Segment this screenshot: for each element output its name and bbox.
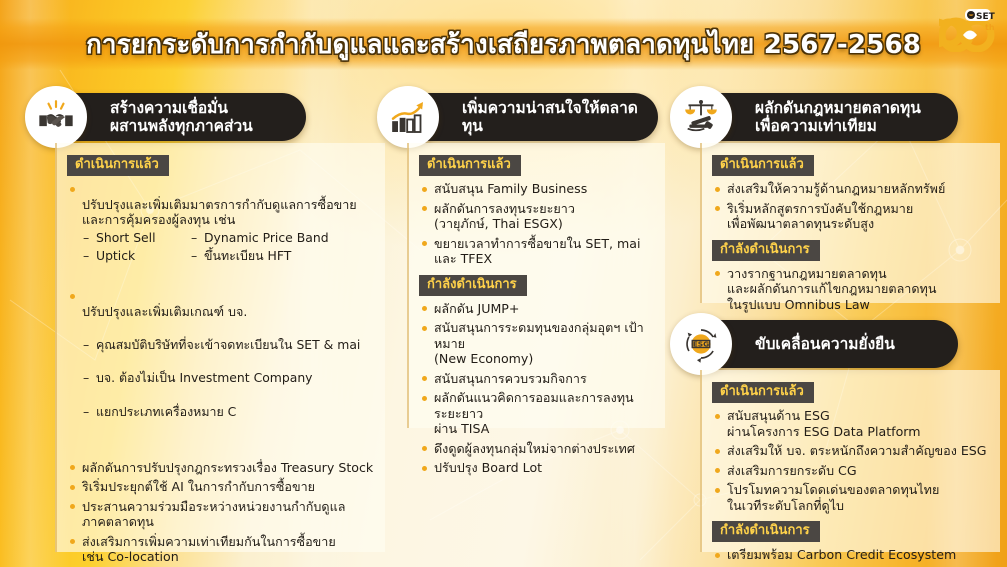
list-item: ผลักดันแนวคิดการออมและการลงทุนระยะยาว ผ่…: [419, 390, 657, 437]
sub-list-item: แยกประเภทเครื่องหมาย C: [82, 404, 377, 420]
list-done-trust: ปรับปรุงและเพิ่มเติมมาตรการกำกับดูแลการซ…: [67, 181, 377, 567]
title-banner: การยกระดับการกำกับดูแลและสร้างเสถียรภาพต…: [0, 18, 1007, 70]
column-header-law[interactable]: ผลักดันกฎหมายตลาดทุน เพื่อความเท่าเทียม: [693, 93, 958, 141]
list-item: ปรับปรุงและเพิ่มเติมเกณฑ์ บจ. คุณสมบัติบ…: [67, 288, 377, 456]
set-50th-anniversary-logo: SET th: [939, 4, 997, 52]
list-item: สนับสนุนการควบรวมกิจการ: [419, 371, 657, 387]
list-item: ประสานความร่วมมือระหว่างหน่วยงานกำกับดูแ…: [67, 499, 377, 530]
list-item: ริเริ่มหลักสูตรการบังคับใช้กฎหมาย เพื่อพ…: [712, 201, 992, 232]
section-badge-done-law: ดำเนินการแล้ว: [712, 155, 814, 176]
section-badge-inprogress-esg: กำลังดำเนินการ: [712, 521, 820, 542]
list-item: ริเริ่มประยุกต์ใช้ AI ในการกำกับการซื้อข…: [67, 479, 377, 495]
section-badge-done-attractiveness: ดำเนินการแล้ว: [419, 155, 521, 176]
bar-chart-growth-icon: [377, 86, 439, 148]
column-panel-esg: ดำเนินการแล้ว สนับสนุนด้าน ESG ผ่านโครงก…: [700, 370, 1000, 552]
handshake-icon: [25, 86, 87, 148]
list-item: ส่งเสริมการยกระดับ CG: [712, 463, 992, 479]
list-item: สนับสนุนการระดมทุนของกลุ่มอุตฯ เป้าหมาย …: [419, 320, 657, 367]
list-item-text: ปรับปรุงและเพิ่มเติมเกณฑ์ บจ.: [82, 304, 247, 319]
infographic-canvas: การยกระดับการกำกับดูแลและสร้างเสถียรภาพต…: [0, 0, 1007, 567]
section-badge-inprogress-law: กำลังดำเนินการ: [712, 240, 820, 261]
list-item: ปรับปรุงและเพิ่มเติมมาตรการกำกับดูแลการซ…: [67, 181, 377, 284]
sub-list: คุณสมบัติบริษัทที่จะเข้าจดทะเบียนใน SET …: [82, 321, 377, 437]
list-done-attractiveness: สนับสนุน Family Business ผลักดันการลงทุน…: [419, 181, 657, 267]
list-inprogress-attractiveness: ผลักดัน JUMP+ สนับสนุนการระดมทุนของกลุ่ม…: [419, 301, 657, 476]
list-done-esg: สนับสนุนด้าน ESG ผ่านโครงการ ESG Data Pl…: [712, 408, 992, 513]
list-item: สนับสนุน Family Business: [419, 181, 657, 197]
sub-list-item: คุณสมบัติบริษัทที่จะเข้าจดทะเบียนใน SET …: [82, 337, 377, 353]
column-panel-attractiveness: ดำเนินการแล้ว สนับสนุน Family Business ผ…: [407, 143, 665, 428]
column-panel-trust: ดำเนินการแล้ว ปรับปรุงและเพิ่มเติมมาตรกา…: [55, 143, 385, 552]
list-item: ส่งเสริมให้ บจ. ตระหนักถึงความสำคัญของ E…: [712, 443, 992, 459]
column-header-trust[interactable]: สร้างความเชื่อมั่น ผสานพลังทุกภาคส่วน: [48, 93, 306, 141]
sub-list-item: Uptick: [82, 248, 186, 264]
list-item: ส่งเสริมให้ความรู้ด้านกฎหมายหลักทรัพย์: [712, 181, 992, 197]
list-item: ขยายเวลาทำการซื้อขายใน SET, mai และ TFEX: [419, 236, 657, 267]
esg-icon: ESG: [670, 313, 732, 375]
list-item: ผลักดันการลงทุนระยะยาว (วายุภักษ์, Thai …: [419, 201, 657, 232]
column-header-esg[interactable]: ESG ขับเคลื่อนความยั่งยืน: [693, 320, 958, 368]
column-panel-law: ดำเนินการแล้ว ส่งเสริมให้ความรู้ด้านกฎหม…: [700, 143, 1000, 303]
list-item: โปรโมทความโดดเด่นของตลาดทุนไทย ในเวทีระด…: [712, 482, 992, 513]
sub-list-item: Dynamic Price Band: [190, 230, 377, 246]
list-item: ดึงดูดผู้ลงทุนกลุ่มใหม่จากต่างประเทศ: [419, 441, 657, 457]
section-badge-done-esg: ดำเนินการแล้ว: [712, 382, 814, 403]
svg-text:th: th: [985, 23, 995, 32]
list-item: ผลักดัน JUMP+: [419, 301, 657, 317]
list-item: ผลักดันการปรับปรุงกฎกระทรวงเรื่อง Treasu…: [67, 460, 377, 476]
list-inprogress-law: วางรากฐานกฎหมายตลาดทุน และผลักดันการแก้ไ…: [712, 266, 992, 313]
list-inprogress-esg: เตรียมพร้อม Carbon Credit Ecosystem: [712, 547, 992, 563]
list-item: ส่งเสริมการเพิ่มความเท่าเทียมกันในการซื้…: [67, 534, 377, 565]
sub-list-item: Short Sell: [82, 230, 186, 246]
section-badge-inprogress-attractiveness: กำลังดำเนินการ: [419, 275, 527, 296]
scales-gavel-icon: [670, 86, 732, 148]
sub-list-item: ขึ้นทะเบียน HFT: [190, 248, 377, 264]
page-title: การยกระดับการกำกับดูแลและสร้างเสถียรภาพต…: [86, 24, 921, 65]
sub-list: Short Sell Dynamic Price Band Uptick ขึ้…: [82, 230, 377, 266]
section-badge-done-trust: ดำเนินการแล้ว: [67, 155, 169, 176]
list-item: วางรากฐานกฎหมายตลาดทุน และผลักดันการแก้ไ…: [712, 266, 992, 313]
list-item: เตรียมพร้อม Carbon Credit Ecosystem: [712, 547, 992, 563]
svg-text:SET: SET: [976, 12, 996, 22]
svg-text:ESG: ESG: [693, 340, 710, 349]
list-item: ปรับปรุง Board Lot: [419, 460, 657, 476]
list-item: สนับสนุนด้าน ESG ผ่านโครงการ ESG Data Pl…: [712, 408, 992, 439]
sub-list-item: บจ. ต้องไม่เป็น Investment Company: [82, 370, 377, 386]
list-item-text: ปรับปรุงและเพิ่มเติมมาตรการกำกับดูแลการซ…: [82, 197, 357, 228]
list-done-law: ส่งเสริมให้ความรู้ด้านกฎหมายหลักทรัพย์ ร…: [712, 181, 992, 232]
column-header-attractiveness[interactable]: เพิ่มความน่าสนใจให้ตลาดทุน: [400, 93, 658, 141]
